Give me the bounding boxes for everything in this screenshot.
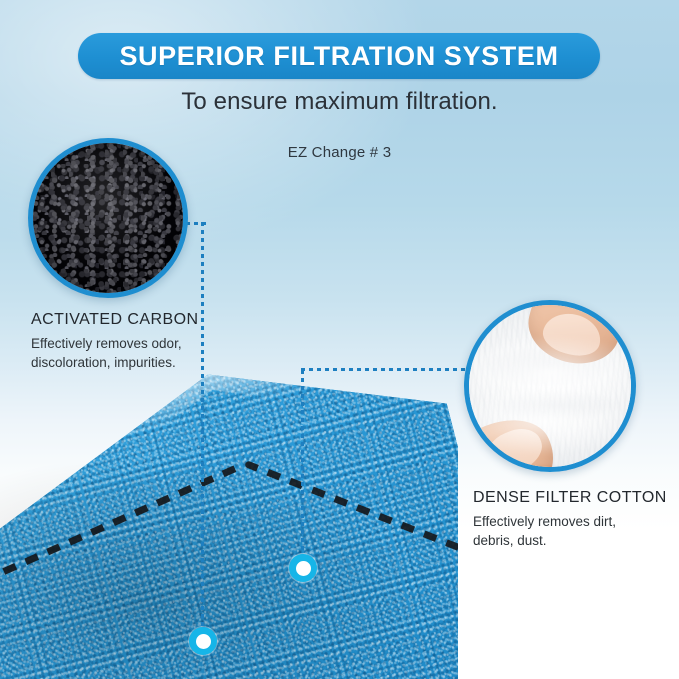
hotspot-dot-cotton[interactable] bbox=[289, 554, 317, 582]
foam-surface bbox=[0, 346, 458, 679]
callout-title-dense-filter-cotton: DENSE FILTER COTTON bbox=[473, 489, 667, 507]
cotton-surface bbox=[469, 305, 631, 467]
activated-carbon-inset bbox=[28, 138, 188, 298]
callout-description-line: Effectively removes odor, bbox=[31, 334, 182, 353]
callout-description-activated-carbon: Effectively removes odor, discoloration,… bbox=[31, 334, 182, 372]
page-title: SUPERIOR FILTRATION SYSTEM bbox=[119, 41, 558, 72]
carbon-granules-texture bbox=[33, 143, 183, 293]
banner-pill: SUPERIOR FILTRATION SYSTEM bbox=[78, 33, 600, 79]
connector-line-cotton-vertical bbox=[301, 370, 304, 565]
callout-description-line: debris, dust. bbox=[473, 531, 616, 550]
connector-line-cotton-horizontal bbox=[301, 368, 476, 371]
callout-description-line: discoloration, impurities. bbox=[31, 353, 182, 372]
dense-filter-cotton-inset bbox=[464, 300, 636, 472]
callout-description-dense-filter-cotton: Effectively removes dirt, debris, dust. bbox=[473, 512, 616, 550]
cotton-fluff-overlay bbox=[469, 305, 631, 467]
connector-line-carbon-vertical bbox=[201, 222, 204, 637]
callout-title-activated-carbon: ACTIVATED CARBON bbox=[31, 311, 199, 329]
blue-foam-sheet bbox=[0, 346, 458, 679]
page-subtitle: To ensure maximum filtration. bbox=[0, 88, 679, 116]
hotspot-dot-carbon[interactable] bbox=[189, 627, 217, 655]
callout-description-line: Effectively removes dirt, bbox=[473, 512, 616, 531]
filter-product-photo bbox=[0, 346, 458, 679]
